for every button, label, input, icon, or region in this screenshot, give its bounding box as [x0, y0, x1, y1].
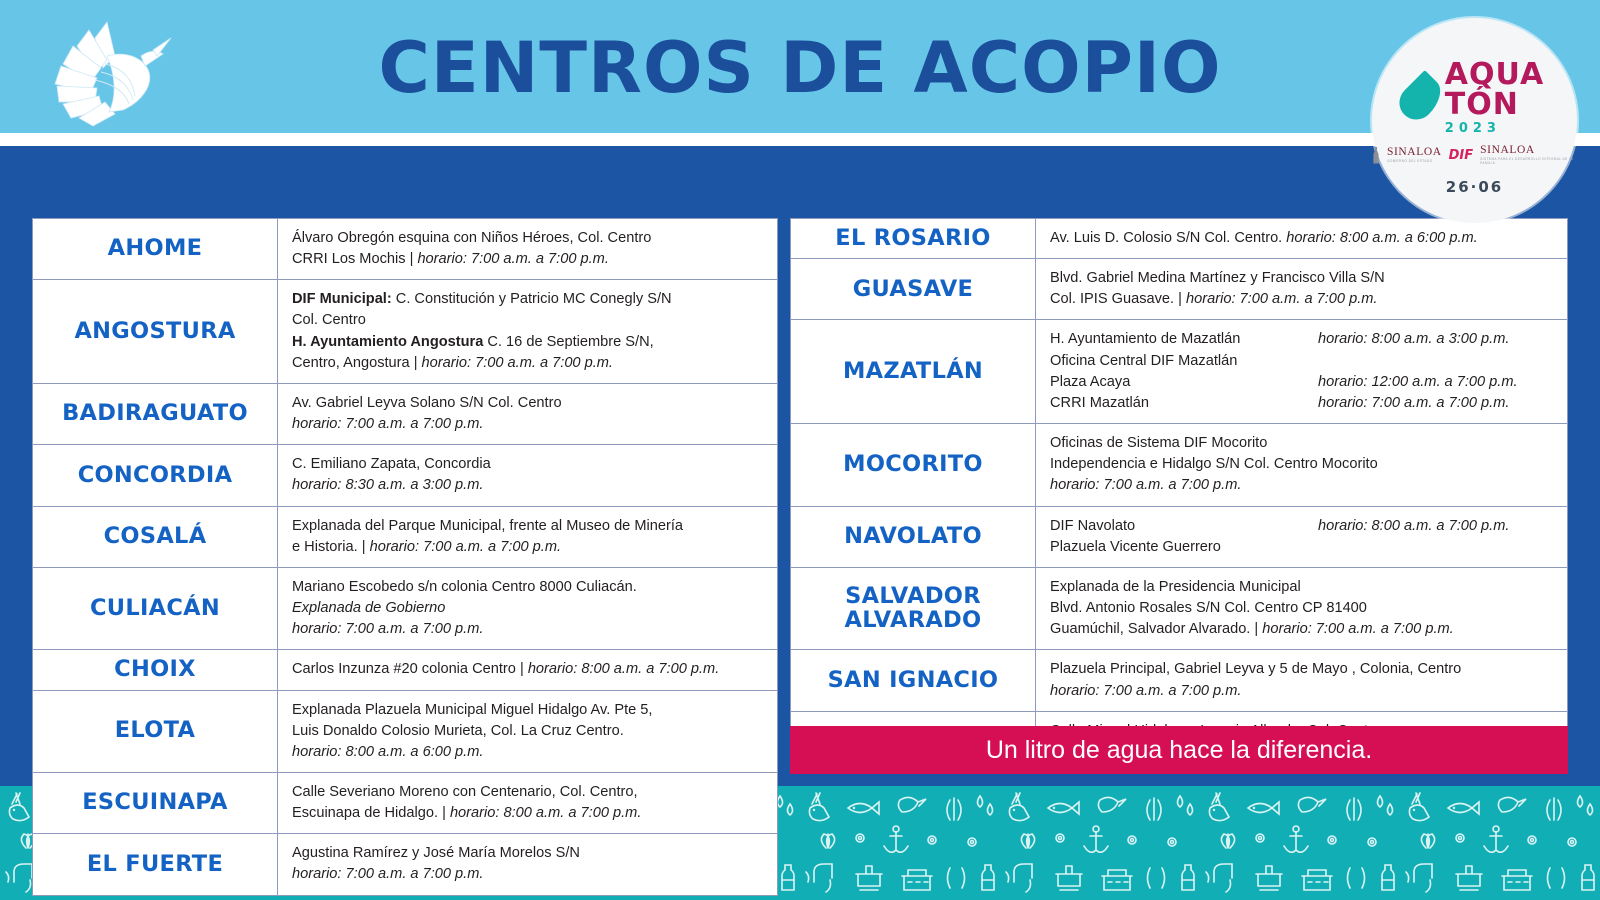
badge-date: 26·06 — [1372, 178, 1577, 196]
center-hours: horario: 8:00 a.m. a 3:00 p.m. — [1318, 329, 1555, 350]
page-title: CENTROS DE ACOPIO — [300, 22, 1300, 114]
center-detail-line: Centro, Angostura | horario: 7:00 a.m. a… — [292, 353, 765, 374]
center-detail-line: horario: 7:00 a.m. a 7:00 p.m. — [1050, 475, 1555, 496]
municipality-name: MAZATLÁN — [791, 320, 1036, 423]
table-row: CHOIXCarlos Inzunza #20 colonia Centro |… — [33, 650, 777, 690]
gov-logo-subtext: GOBIERNO DEL ESTADO — [1387, 159, 1442, 163]
collection-centers-table-right: EL ROSARIOAv. Luis D. Colosio S/N Col. C… — [790, 218, 1568, 773]
municipality-name: COSALÁ — [33, 507, 278, 567]
center-detail-line: Explanada del Parque Municipal, frente a… — [292, 516, 765, 537]
table-row: MAZATLÁNH. Ayuntamiento de MazatlánOfici… — [791, 320, 1567, 424]
table-row: MOCORITOOficinas de Sistema DIF Mocorito… — [791, 424, 1567, 506]
center-detail-line: horario: 7:00 a.m. a 7:00 p.m. — [1050, 681, 1555, 702]
center-location: Plaza Acaya — [1050, 372, 1318, 393]
center-hours: horario: 12:00 a.m. a 7:00 p.m. — [1318, 372, 1555, 393]
center-detail-line: Col. Centro — [292, 310, 765, 331]
center-details: Oficinas de Sistema DIF MocoritoIndepend… — [1036, 424, 1567, 505]
table-row: ESCUINAPACalle Severiano Moreno con Cent… — [33, 773, 777, 834]
center-detail-line: horario: 7:00 a.m. a 7:00 p.m. — [292, 619, 765, 640]
table-row: BADIRAGUATOAv. Gabriel Leyva Solano S/N … — [33, 384, 777, 445]
municipality-name: ELOTA — [33, 691, 278, 772]
center-detail-line: horario: 8:00 a.m. a 6:00 p.m. — [292, 742, 765, 763]
center-details: Carlos Inzunza #20 colonia Centro | hora… — [278, 650, 777, 689]
center-detail-line: Av. Gabriel Leyva Solano S/N Col. Centro — [292, 393, 765, 414]
municipality-name: GUASAVE — [791, 259, 1036, 319]
table-row: AHOMEÁlvaro Obregón esquina con Niños Hé… — [33, 219, 777, 280]
water-drop-icon — [1392, 70, 1449, 127]
table-row: EL FUERTEAgustina Ramírez y José María M… — [33, 834, 777, 894]
center-details: Explanada Plazuela Municipal Miguel Hida… — [278, 691, 777, 772]
municipality-name: CULIACÁN — [33, 568, 278, 649]
table-row: NAVOLATODIF NavolatoPlazuela Vicente Gue… — [791, 507, 1567, 568]
center-detail-line: Escuinapa de Hidalgo. | horario: 8:00 a.… — [292, 803, 765, 824]
center-hours-list: horario: 8:00 a.m. a 7:00 p.m. — [1318, 516, 1555, 558]
municipality-name: EL ROSARIO — [791, 219, 1036, 258]
table-row: CONCORDIAC. Emiliano Zapata, Concordiaho… — [33, 445, 777, 506]
center-detail-line: e Historia. | horario: 7:00 a.m. a 7:00 … — [292, 537, 765, 558]
table-row: ANGOSTURADIF Municipal: C. Constitución … — [33, 280, 777, 384]
table-row: EL ROSARIOAv. Luis D. Colosio S/N Col. C… — [791, 219, 1567, 259]
municipality-name: MOCORITO — [791, 424, 1036, 505]
center-detail-line: Mariano Escobedo s/n colonia Centro 8000… — [292, 577, 765, 598]
table-row: COSALÁExplanada del Parque Municipal, fr… — [33, 507, 777, 568]
center-detail-line: Col. IPIS Guasave. | horario: 7:00 a.m. … — [1050, 289, 1555, 310]
poster-root: CENTROS DE ACOPIO AQUA TÓN 2023 SINALOA … — [0, 0, 1600, 900]
center-location: DIF Navolato — [1050, 516, 1318, 537]
aquaton-badge: AQUA TÓN 2023 SINALOA GOBIERNO DEL ESTAD… — [1372, 18, 1577, 223]
badge-brand-ton: TÓN — [1445, 90, 1544, 120]
center-hours-list: horario: 8:00 a.m. a 3:00 p.m. horario: … — [1318, 329, 1555, 414]
center-detail-line: Luis Donaldo Colosio Murieta, Col. La Cr… — [292, 721, 765, 742]
center-detail-line: horario: 7:00 a.m. a 7:00 p.m. — [292, 864, 765, 885]
center-details: Av. Luis D. Colosio S/N Col. Centro. hor… — [1036, 219, 1567, 258]
dif-mark-icon: DIF — [1449, 148, 1474, 163]
table-row: GUASAVEBlvd. Gabriel Medina Martínez y F… — [791, 259, 1567, 320]
table-row: SALVADOR ALVARADOExplanada de la Preside… — [791, 568, 1567, 650]
center-location: H. Ayuntamiento de Mazatlán — [1050, 329, 1318, 350]
center-detail-line: Guamúchil, Salvador Alvarado. | horario:… — [1050, 619, 1555, 640]
table-row: CULIACÁNMariano Escobedo s/n colonia Cen… — [33, 568, 777, 650]
municipality-name: BADIRAGUATO — [33, 384, 278, 444]
center-detail-line: horario: 8:30 a.m. a 3:00 p.m. — [292, 475, 765, 496]
center-location: CRRI Mazatlán — [1050, 393, 1318, 414]
center-detail-line: H. Ayuntamiento Angostura C. 16 de Septi… — [292, 332, 765, 353]
municipality-name: SALVADOR ALVARADO — [791, 568, 1036, 649]
center-detail-line: Plazuela Principal, Gabriel Leyva y 5 de… — [1050, 659, 1555, 680]
gov-logo-text: SINALOA — [1387, 147, 1442, 159]
center-detail-line: CRRI Los Mochis | horario: 7:00 a.m. a 7… — [292, 249, 765, 270]
government-seal-icon — [1372, 147, 1380, 164]
center-location: Plazuela Vicente Guerrero — [1050, 537, 1318, 558]
collection-centers-table-left: AHOMEÁlvaro Obregón esquina con Niños Hé… — [32, 218, 778, 896]
slogan-banner: Un litro de agua hace la diferencia. — [790, 726, 1568, 774]
dif-logo-text: SINALOA — [1480, 145, 1577, 157]
center-detail-line: Agustina Ramírez y José María Morelos S/… — [292, 843, 765, 864]
badge-brand-aqua: AQUA — [1445, 60, 1544, 90]
center-details: DIF NavolatoPlazuela Vicente Guerrerohor… — [1036, 507, 1567, 567]
center-details: H. Ayuntamiento de MazatlánOficina Centr… — [1036, 320, 1567, 423]
center-hours: horario: 7:00 a.m. a 7:00 p.m. — [1318, 393, 1555, 414]
center-detail-line: Explanada Plazuela Municipal Miguel Hida… — [292, 700, 765, 721]
hummingbird-icon — [45, 16, 173, 134]
center-location-list: H. Ayuntamiento de MazatlánOficina Centr… — [1050, 329, 1318, 414]
center-detail-line: C. Emiliano Zapata, Concordia — [292, 454, 765, 475]
center-details: DIF Municipal: C. Constitución y Patrici… — [278, 280, 777, 383]
center-details: Blvd. Gabriel Medina Martínez y Francisc… — [1036, 259, 1567, 319]
center-detail-line: Álvaro Obregón esquina con Niños Héroes,… — [292, 228, 765, 249]
badge-brand: AQUA TÓN 2023 — [1372, 58, 1577, 136]
center-detail-line: Av. Luis D. Colosio S/N Col. Centro. hor… — [1050, 228, 1555, 249]
municipality-name: SAN IGNACIO — [791, 650, 1036, 710]
center-details: Mariano Escobedo s/n colonia Centro 8000… — [278, 568, 777, 649]
municipality-name: NAVOLATO — [791, 507, 1036, 567]
header-band: CENTROS DE ACOPIO — [0, 0, 1600, 133]
center-details: Av. Gabriel Leyva Solano S/N Col. Centro… — [278, 384, 777, 444]
dif-logo-subtext: SISTEMA PARA EL DESARROLLO INTEGRAL DE L… — [1480, 157, 1577, 165]
center-detail-line: Carlos Inzunza #20 colonia Centro | hora… — [292, 659, 765, 680]
municipality-name: CONCORDIA — [33, 445, 278, 505]
center-detail-line: Explanada de Gobierno — [292, 598, 765, 619]
badge-year: 2023 — [1445, 122, 1544, 135]
center-details: Explanada de la Presidencia MunicipalBlv… — [1036, 568, 1567, 649]
center-details: Calle Severiano Moreno con Centenario, C… — [278, 773, 777, 833]
center-detail-line: Independencia e Hidalgo S/N Col. Centro … — [1050, 454, 1555, 475]
table-row: ELOTAExplanada Plazuela Municipal Miguel… — [33, 691, 777, 773]
center-detail-line: Blvd. Antonio Rosales S/N Col. Centro CP… — [1050, 598, 1555, 619]
center-location-list: DIF NavolatoPlazuela Vicente Guerrero — [1050, 516, 1318, 558]
municipality-name: EL FUERTE — [33, 834, 278, 894]
center-details: Explanada del Parque Municipal, frente a… — [278, 507, 777, 567]
center-detail-line: Calle Severiano Moreno con Centenario, C… — [292, 782, 765, 803]
center-detail-line: DIF Municipal: C. Constitución y Patrici… — [292, 289, 765, 310]
table-row: SAN IGNACIOPlazuela Principal, Gabriel L… — [791, 650, 1567, 711]
municipality-name: CHOIX — [33, 650, 278, 689]
center-details: C. Emiliano Zapata, Concordiahorario: 8:… — [278, 445, 777, 505]
municipality-name: ANGOSTURA — [33, 280, 278, 383]
center-detail-line: Explanada de la Presidencia Municipal — [1050, 577, 1555, 598]
center-detail-line: horario: 7:00 a.m. a 7:00 p.m. — [292, 414, 765, 435]
center-details: Plazuela Principal, Gabriel Leyva y 5 de… — [1036, 650, 1567, 710]
center-detail-line: Oficinas de Sistema DIF Mocorito — [1050, 433, 1555, 454]
center-hours: horario: 8:00 a.m. a 7:00 p.m. — [1318, 516, 1555, 537]
municipality-name: AHOME — [33, 219, 278, 279]
center-location: Oficina Central DIF Mazatlán — [1050, 351, 1318, 372]
center-details: Agustina Ramírez y José María Morelos S/… — [278, 834, 777, 894]
center-detail-line: Blvd. Gabriel Medina Martínez y Francisc… — [1050, 268, 1555, 289]
center-details: Álvaro Obregón esquina con Niños Héroes,… — [278, 219, 777, 279]
badge-institution-logos: SINALOA GOBIERNO DEL ESTADO DIF SINALOA … — [1372, 142, 1577, 168]
municipality-name: ESCUINAPA — [33, 773, 278, 833]
